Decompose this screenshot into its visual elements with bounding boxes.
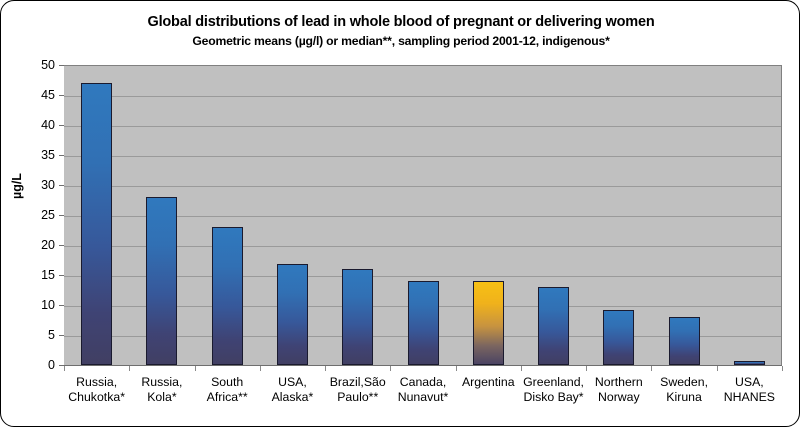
y-tick-mark bbox=[59, 155, 64, 156]
y-tick-label: 50 bbox=[15, 59, 55, 71]
x-tick-mark bbox=[64, 366, 65, 371]
x-axis-label: Russia, Kola* bbox=[126, 375, 198, 404]
gridline bbox=[64, 186, 781, 187]
y-tick-mark bbox=[59, 245, 64, 246]
y-tick-mark bbox=[59, 335, 64, 336]
bar bbox=[473, 281, 504, 365]
y-tick-mark bbox=[59, 275, 64, 276]
bar bbox=[146, 197, 177, 365]
gridline bbox=[64, 126, 781, 127]
x-axis-label: Argentina bbox=[452, 375, 524, 390]
x-tick-mark bbox=[390, 366, 391, 371]
y-tick-label: 20 bbox=[15, 239, 55, 251]
y-tick-label: 15 bbox=[15, 269, 55, 281]
x-axis-label: Canada, Nunavut* bbox=[387, 375, 459, 404]
y-tick-mark bbox=[59, 125, 64, 126]
x-tick-mark bbox=[651, 366, 652, 371]
x-axis-label: USA, Alaska* bbox=[256, 375, 328, 404]
x-tick-mark bbox=[717, 366, 718, 371]
bar bbox=[603, 310, 634, 365]
bar bbox=[277, 264, 308, 365]
bar bbox=[81, 83, 112, 365]
x-tick-mark bbox=[456, 366, 457, 371]
x-axis-label: South Africa** bbox=[191, 375, 263, 404]
y-tick-label: 25 bbox=[15, 209, 55, 221]
title-block: Global distributions of lead in whole bl… bbox=[1, 13, 800, 49]
x-tick-mark bbox=[129, 366, 130, 371]
y-tick-mark bbox=[59, 305, 64, 306]
gridline bbox=[64, 96, 781, 97]
y-tick-mark bbox=[59, 215, 64, 216]
x-tick-mark bbox=[195, 366, 196, 371]
x-tick-mark bbox=[521, 366, 522, 371]
x-tick-mark bbox=[325, 366, 326, 371]
x-axis-label: Russia, Chukotka* bbox=[61, 375, 133, 404]
x-axis-label: Greenland, Disko Bay* bbox=[518, 375, 590, 404]
x-axis-label: Northern Norway bbox=[583, 375, 655, 404]
x-tick-mark bbox=[586, 366, 587, 371]
chart-card: Global distributions of lead in whole bl… bbox=[0, 0, 800, 427]
y-tick-mark bbox=[59, 185, 64, 186]
y-tick-label: 40 bbox=[15, 119, 55, 131]
x-axis-line bbox=[64, 365, 782, 366]
y-tick-label: 35 bbox=[15, 149, 55, 161]
chart-subtitle: Geometric means (µg/l) or median**, samp… bbox=[1, 33, 800, 49]
x-tick-mark bbox=[260, 366, 261, 371]
x-axis-label: Sweden, Kiruna bbox=[648, 375, 720, 404]
y-tick-label: 45 bbox=[15, 89, 55, 101]
y-tick-label: 10 bbox=[15, 299, 55, 311]
y-tick-label: 5 bbox=[15, 329, 55, 341]
x-tick-mark bbox=[782, 366, 783, 371]
bar bbox=[212, 227, 243, 365]
y-tick-mark bbox=[59, 95, 64, 96]
y-tick-label: 30 bbox=[15, 179, 55, 191]
x-axis-label: USA, NHANES bbox=[713, 375, 785, 404]
bar bbox=[669, 317, 700, 365]
y-tick-label: 0 bbox=[15, 359, 55, 371]
bar bbox=[342, 269, 373, 365]
y-tick-mark bbox=[59, 65, 64, 66]
bar bbox=[408, 281, 439, 365]
chart-title: Global distributions of lead in whole bl… bbox=[1, 13, 800, 31]
x-axis-label: Brazil,São Paulo** bbox=[322, 375, 394, 404]
bar bbox=[538, 287, 569, 365]
gridline bbox=[64, 156, 781, 157]
plot-area bbox=[64, 65, 782, 365]
